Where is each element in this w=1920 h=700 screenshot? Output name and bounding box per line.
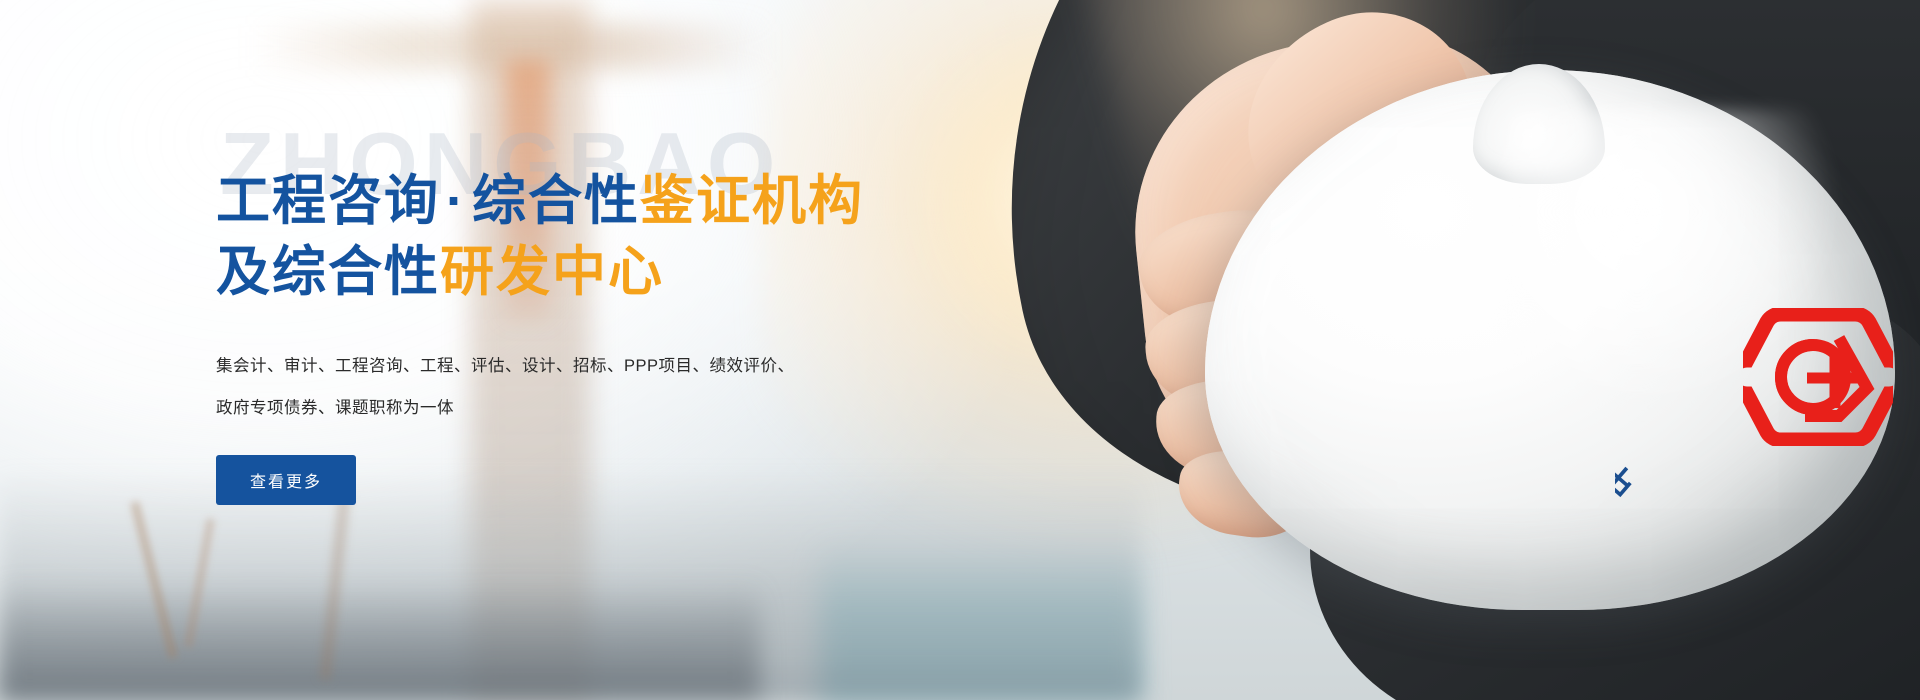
view-more-button[interactable]: 查看更多 xyxy=(216,455,356,505)
headline-line1-part2: 综合性 xyxy=(472,171,640,231)
zhongbao-hexagon-logo xyxy=(1743,308,1893,446)
hero-description: 集会计、审计、工程咨询、工程、评估、设计、招标、PPP项目、绩效评价、 政府专项… xyxy=(216,345,816,429)
headline-line1-accent: 鉴证机构 xyxy=(640,171,864,231)
hero-content: ZHONGBAO 工程咨询·综合性鉴证机构 及综合性研发中心 集会计、审计、工程… xyxy=(216,120,916,505)
headline-line1-part1: 工程咨询 xyxy=(216,171,440,231)
headline-line-1: 工程咨询·综合性鉴证机构 xyxy=(216,166,916,237)
headline-line2-accent: 研发中心 xyxy=(440,242,664,302)
page-title: 工程咨询·综合性鉴证机构 及综合性研发中心 xyxy=(216,166,916,309)
hero-banner: 中宝工程管理 ZHONGBAO 工程咨询·综合性鉴证机构 xyxy=(0,0,1920,700)
headline-line2-part1: 及综合性 xyxy=(216,242,440,302)
description-line-1: 集会计、审计、工程咨询、工程、评估、设计、招标、PPP项目、绩效评价、 xyxy=(216,345,816,387)
headline-line-2: 及综合性研发中心 xyxy=(216,237,916,308)
background-ground-shadow xyxy=(0,580,760,700)
helmet-photo-group: 中宝工程管理 xyxy=(810,0,1920,700)
helmet-company-name: 中宝工程管理 xyxy=(1615,255,1643,504)
description-line-2: 政府专项债券、课题职称为一体 xyxy=(216,387,816,429)
headline-separator-dot: · xyxy=(440,171,472,231)
